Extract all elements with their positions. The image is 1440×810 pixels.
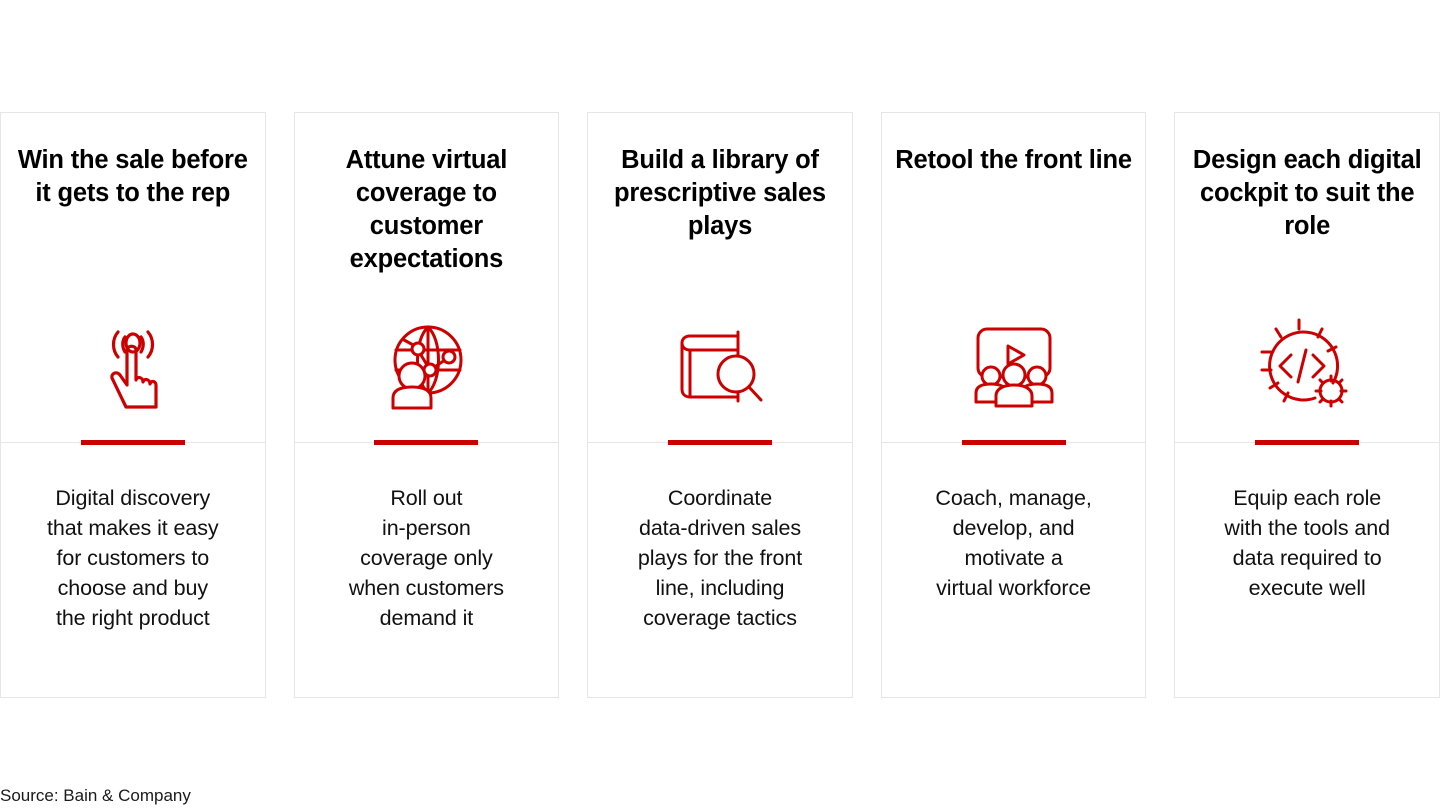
card-build-a-library: Build a library of prescriptive sales pl…	[587, 112, 853, 698]
accent-bar	[668, 440, 772, 445]
source-note: Source: Bain & Company	[0, 785, 191, 807]
card-description: Roll out in-person coverage only when cu…	[309, 483, 545, 633]
card-retool-the-front-line: Retool the front line Coach, manage, dev…	[881, 112, 1147, 698]
tap-gesture-icon	[1, 311, 265, 421]
card-divider	[882, 442, 1146, 443]
card-title: Attune virtual coverage to customer expe…	[295, 113, 559, 276]
card-divider	[295, 442, 559, 443]
accent-bar	[81, 440, 185, 445]
accent-bar	[1255, 440, 1359, 445]
accent-bar	[962, 440, 1066, 445]
card-body-region: Roll out in-person coverage only when cu…	[295, 443, 559, 697]
card-divider	[588, 442, 852, 443]
card-divider	[1175, 442, 1439, 443]
globe-network-person-icon	[295, 311, 559, 421]
accent-bar	[374, 440, 478, 445]
book-magnifier-icon	[588, 311, 852, 421]
card-body-region: Coach, manage, develop, and motivate a v…	[882, 443, 1146, 697]
card-design-digital-cockpit: Design each digital cockpit to suit the …	[1174, 112, 1440, 698]
card-description: Digital discovery that makes it easy for…	[15, 483, 251, 633]
card-title: Build a library of prescriptive sales pl…	[588, 113, 852, 243]
card-header-region: Retool the front line	[882, 113, 1146, 442]
card-description: Equip each role with the tools and data …	[1189, 483, 1425, 603]
card-body-region: Equip each role with the tools and data …	[1175, 443, 1439, 697]
card-title: Win the sale before it gets to the rep	[1, 113, 265, 210]
card-title: Design each digital cockpit to suit the …	[1175, 113, 1439, 243]
card-divider	[1, 442, 265, 443]
card-attune-virtual-coverage: Attune virtual coverage to customer expe…	[294, 112, 560, 698]
card-title: Retool the front line	[883, 113, 1144, 177]
card-header-region: Win the sale before it gets to the rep	[1, 113, 265, 442]
card-body-region: Coordinate data-driven sales plays for t…	[588, 443, 852, 697]
card-header-region: Design each digital cockpit to suit the …	[1175, 113, 1439, 442]
card-description: Coach, manage, develop, and motivate a v…	[896, 483, 1132, 603]
card-header-region: Build a library of prescriptive sales pl…	[588, 113, 852, 442]
card-description: Coordinate data-driven sales plays for t…	[602, 483, 838, 633]
card-header-region: Attune virtual coverage to customer expe…	[295, 113, 559, 442]
card-body-region: Digital discovery that makes it easy for…	[1, 443, 265, 697]
video-team-icon	[882, 311, 1146, 421]
card-win-the-sale: Win the sale before it gets to the rep D…	[0, 112, 266, 698]
code-circle-gear-icon	[1175, 311, 1439, 421]
card-grid: Win the sale before it gets to the rep D…	[0, 112, 1440, 698]
